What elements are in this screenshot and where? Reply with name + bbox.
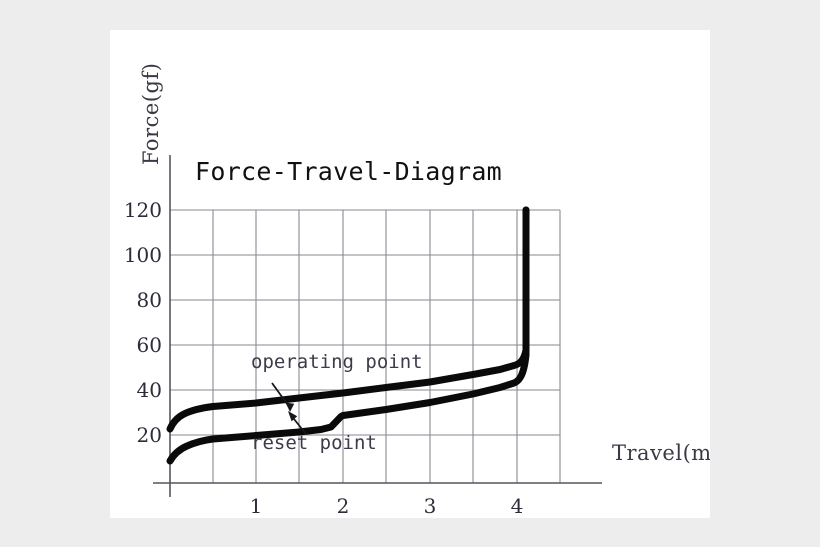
reset-point-label: reset point [251,432,377,454]
chart-panel: 120 100 80 60 40 20 1 2 3 4 Force(gf) Tr… [110,30,710,518]
y-tick-80: 80 [137,288,162,312]
annotation-reset-point: reset point [251,411,377,454]
operating-point-label: operating point [251,351,423,373]
screenshot-root: 120 100 80 60 40 20 1 2 3 4 Force(gf) Tr… [0,0,820,547]
y-tick-60: 60 [137,333,162,357]
operating-point-arrow-head [286,403,295,412]
x-tick-4: 4 [511,494,524,518]
y-tick-120: 120 [124,198,162,222]
x-tick-1: 1 [250,494,263,518]
chart-title: Force-Travel-Diagram [195,157,502,186]
y-tick-20: 20 [137,423,162,447]
grid-horizontal [170,210,560,435]
y-tick-40: 40 [137,378,162,402]
x-tick-labels: 1 2 3 4 [250,494,524,518]
y-axis-title: Force(gf) [139,63,163,165]
force-travel-chart: 120 100 80 60 40 20 1 2 3 4 Force(gf) Tr… [110,30,710,518]
y-tick-labels: 120 100 80 60 40 20 [124,198,162,447]
x-tick-3: 3 [424,494,437,518]
x-axis-title: Travel(mm) [612,441,710,465]
x-tick-2: 2 [337,494,350,518]
y-tick-100: 100 [124,243,162,267]
